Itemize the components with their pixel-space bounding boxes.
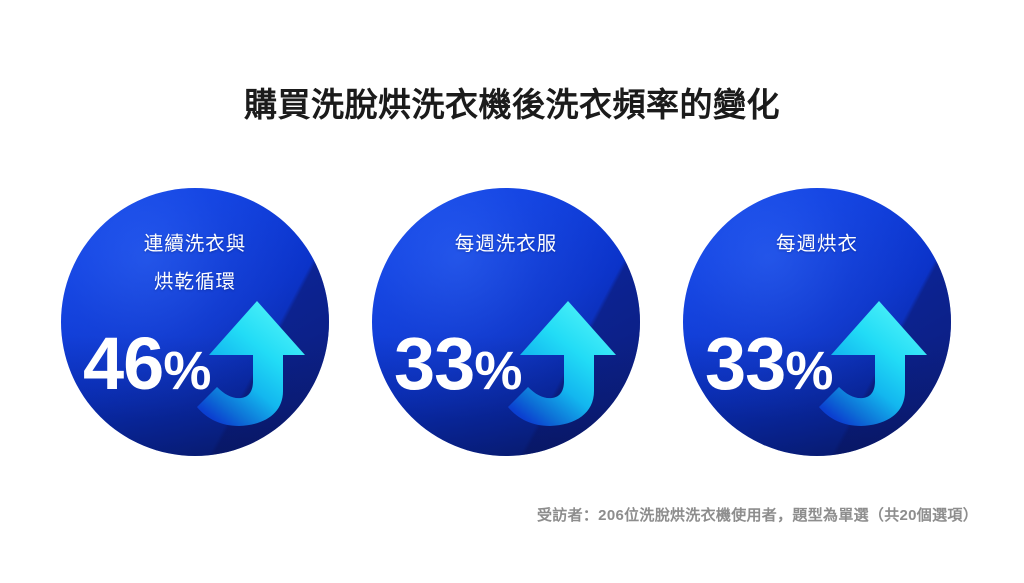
bubble-label: 每週洗衣服 — [372, 225, 640, 263]
bubble-stat: 33% — [683, 313, 951, 423]
bubble-label: 連續洗衣與 烘乾循環 — [61, 225, 329, 301]
bubble-label: 每週烘衣 — [683, 225, 951, 263]
page-title: 購買洗脫烘洗衣機後洗衣頻率的變化 — [0, 78, 1024, 126]
infographic-slide: 購買洗脫烘洗衣機後洗衣頻率的變化 連續洗衣與 烘乾循環 — [0, 0, 1024, 583]
bubble-label-line-1: 連續洗衣與 — [61, 225, 329, 263]
stat-bubble-group: 連續洗衣與 烘乾循環 — [0, 188, 1024, 463]
stat-bubble: 每週洗衣服 — [372, 188, 640, 456]
stat-percent-sign: % — [474, 341, 521, 401]
bubble-stat-value: 33% — [394, 321, 521, 414]
stat-bubble: 連續洗衣與 烘乾循環 — [61, 188, 329, 456]
stat-percent-sign: % — [785, 341, 832, 401]
bubble-stat: 33% — [372, 313, 640, 423]
stat-number: 46 — [83, 322, 163, 405]
up-arrow-icon — [195, 295, 307, 427]
bubble-label-line-1: 每週烘衣 — [683, 225, 951, 263]
bubble-stat-value: 33% — [705, 321, 832, 414]
bubble-label-line-1: 每週洗衣服 — [372, 225, 640, 263]
bubble-label-line-2: 烘乾循環 — [61, 263, 329, 301]
survey-footnote: 受訪者：206位洗脫烘洗衣機使用者，題型為單選（共20個選項） — [537, 504, 978, 525]
stat-number: 33 — [705, 322, 785, 405]
stat-number: 33 — [394, 322, 474, 405]
bubble-stat: 46% — [61, 313, 329, 423]
up-arrow-icon — [506, 295, 618, 427]
up-arrow-icon — [817, 295, 929, 427]
bubble-stat-value: 46% — [83, 321, 210, 414]
stat-bubble: 每週烘衣 — [683, 188, 951, 456]
stat-percent-sign: % — [163, 341, 210, 401]
